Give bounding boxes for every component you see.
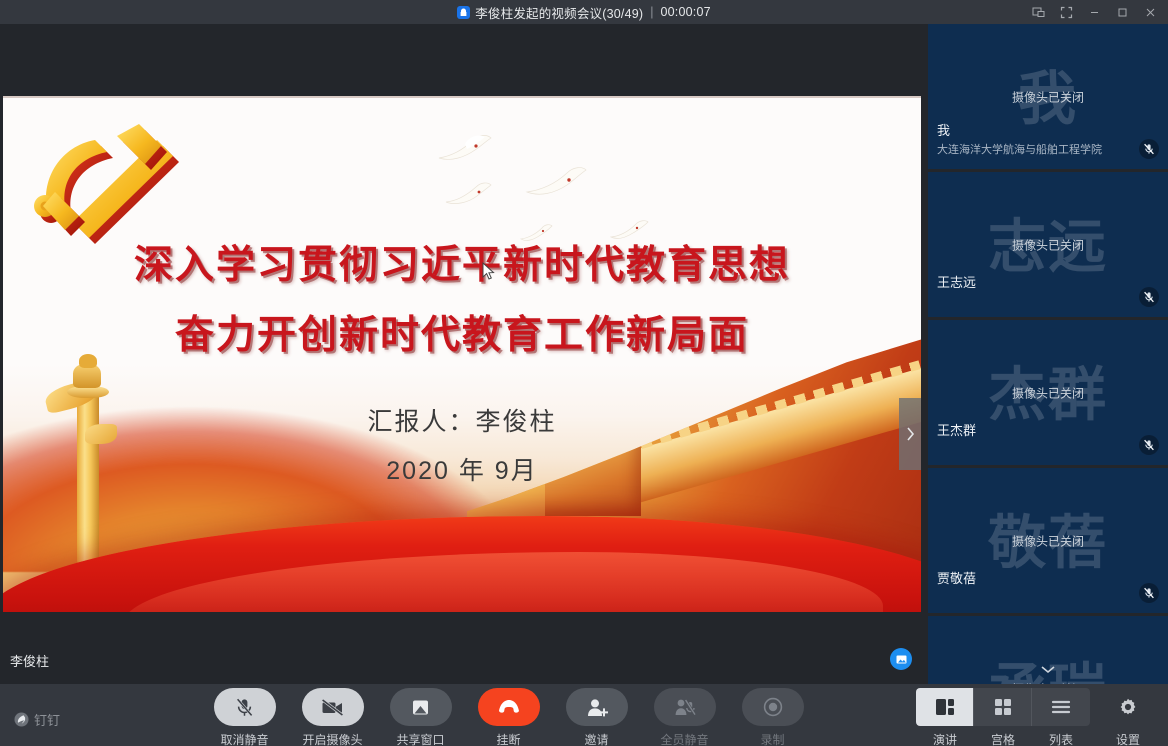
toolbar-label: 邀请 bbox=[584, 731, 608, 746]
close-button[interactable] bbox=[1136, 0, 1164, 24]
slide-title-line-1: 深入学习贯彻习近平新时代教育思想 bbox=[3, 234, 921, 290]
slide-title-line-2: 奋力开创新时代教育工作新局面 bbox=[3, 304, 921, 360]
record-icon[interactable] bbox=[742, 688, 804, 726]
participant-org: 大连海洋大学航海与船舶工程学院 bbox=[937, 141, 1102, 157]
view-mode-speaker[interactable]: 演讲 bbox=[916, 688, 974, 746]
share-window-icon[interactable] bbox=[390, 688, 452, 726]
minimize-button[interactable] bbox=[1080, 0, 1108, 24]
toolbar-label: 取消静音 bbox=[220, 731, 268, 746]
participant-name: 王志远 bbox=[937, 272, 976, 291]
toolbar-label: 挂断 bbox=[496, 731, 520, 746]
maximize-button[interactable] bbox=[1108, 0, 1136, 24]
participant-tile[interactable]: 我 摄像头已关闭 我 大连海洋大学航海与船舶工程学院 bbox=[928, 24, 1168, 169]
camera-status-label: 摄像头已关闭 bbox=[928, 532, 1168, 549]
next-slide-button[interactable] bbox=[899, 398, 921, 470]
presentation-slide: 深入学习贯彻习近平新时代教育思想 奋力开创新时代教育工作新局面 汇报人：李俊柱 … bbox=[3, 96, 921, 612]
slide-text-block: 深入学习贯彻习近平新时代教育思想 奋力开创新时代教育工作新局面 汇报人：李俊柱 … bbox=[3, 96, 921, 612]
toolbar-item-share-window[interactable]: 共享窗口 bbox=[382, 688, 459, 746]
participant-tile[interactable]: 敬蓓 摄像头已关闭 贾敬蓓 bbox=[928, 468, 1168, 613]
window-controls bbox=[1024, 0, 1164, 24]
participant-name: 我 bbox=[937, 120, 950, 139]
participant-rail[interactable]: 我 摄像头已关闭 我 大连海洋大学航海与船舶工程学院 志远 摄像头已关闭 王志远 bbox=[928, 24, 1168, 684]
toolbar-actions: 取消静音 开启摄像头 bbox=[206, 688, 811, 746]
view-mode-grid[interactable]: 宫格 bbox=[974, 688, 1032, 746]
participant-name: 贾敬蓓 bbox=[937, 568, 976, 587]
shared-screen-stage[interactable]: 深入学习贯彻习近平新时代教育思想 奋力开创新时代教育工作新局面 汇报人：李俊柱 … bbox=[0, 24, 924, 684]
view-mode-group: 演讲 宫格 列表 bbox=[916, 688, 1090, 746]
fullscreen-button[interactable] bbox=[1052, 0, 1080, 24]
dingtalk-meeting-icon bbox=[457, 6, 470, 19]
toolbar-item-mute-all[interactable]: 全员静音 bbox=[646, 688, 723, 746]
toolbar-item-hangup[interactable]: 挂断 bbox=[470, 688, 547, 746]
presenter-name: 李俊柱 bbox=[10, 651, 49, 670]
settings-label: 设置 bbox=[1116, 731, 1140, 746]
view-mode-label: 宫格 bbox=[991, 731, 1015, 746]
brand-label: 钉钉 bbox=[34, 710, 60, 729]
toolbar-label: 开启摄像头 bbox=[302, 731, 362, 746]
toolbar-item-unmute[interactable]: 取消静音 bbox=[206, 688, 283, 746]
participant-tile[interactable]: 志远 摄像头已关闭 王志远 bbox=[928, 172, 1168, 317]
toolbar-label: 录制 bbox=[760, 731, 784, 746]
title-center: 李俊柱发起的视频会议(30/49) | 00:00:07 bbox=[457, 3, 711, 22]
meeting-timer: 00:00:07 bbox=[661, 5, 711, 19]
screen-share-icon bbox=[890, 648, 912, 670]
dingtalk-logo-icon bbox=[14, 712, 29, 727]
dingtalk-brand: 钉钉 bbox=[14, 710, 60, 729]
participant-name: 王杰群 bbox=[937, 420, 976, 439]
toolbar-item-record[interactable]: 录制 bbox=[734, 688, 811, 746]
view-mode-label: 列表 bbox=[1049, 731, 1073, 746]
meeting-title: 李俊柱发起的视频会议(30/49) bbox=[475, 3, 643, 22]
view-mode-label: 演讲 bbox=[933, 731, 957, 746]
mic-muted-icon bbox=[1139, 139, 1159, 159]
settings-button[interactable]: 设置 bbox=[1100, 688, 1156, 746]
mic-muted-icon bbox=[1139, 435, 1159, 455]
presenter-bar: 李俊柱 bbox=[0, 636, 924, 684]
speaker-view-icon[interactable] bbox=[916, 688, 974, 726]
camera-off-icon[interactable] bbox=[302, 688, 364, 726]
grid-view-icon[interactable] bbox=[974, 688, 1032, 726]
title-separator: | bbox=[648, 5, 655, 19]
dingtalk-meeting-window: 李俊柱发起的视频会议(30/49) | 00:00:07 bbox=[0, 0, 1168, 746]
mute-all-icon[interactable] bbox=[654, 688, 716, 726]
title-bar: 李俊柱发起的视频会议(30/49) | 00:00:07 bbox=[0, 0, 1168, 24]
toolbar-label: 共享窗口 bbox=[396, 731, 444, 746]
mic-muted-icon[interactable] bbox=[214, 688, 276, 726]
toolbar-item-camera[interactable]: 开启摄像头 bbox=[294, 688, 371, 746]
slide-subtitle-presenter: 汇报人：李俊柱 bbox=[3, 402, 921, 438]
participant-tile[interactable]: 杰群 摄像头已关闭 王杰群 bbox=[928, 320, 1168, 465]
hangup-icon[interactable] bbox=[478, 688, 540, 726]
gear-icon[interactable] bbox=[1109, 688, 1147, 726]
view-mode-list[interactable]: 列表 bbox=[1032, 688, 1090, 746]
meeting-toolbar: 钉钉 取消静音 bbox=[0, 684, 1168, 746]
toolbar-label: 全员静音 bbox=[660, 731, 708, 746]
toolbar-item-invite[interactable]: 邀请 bbox=[558, 688, 635, 746]
chevron-down-icon[interactable] bbox=[928, 658, 1168, 680]
camera-status-label: 摄像头已关闭 bbox=[928, 88, 1168, 105]
list-view-icon[interactable] bbox=[1032, 688, 1090, 726]
mic-muted-icon bbox=[1139, 287, 1159, 307]
picture-in-picture-button[interactable] bbox=[1024, 0, 1052, 24]
camera-status-label: 摄像头已关闭 bbox=[928, 236, 1168, 253]
mic-muted-icon bbox=[1139, 583, 1159, 603]
add-user-icon[interactable] bbox=[566, 688, 628, 726]
slide-subtitle-date: 2020 年 9月 bbox=[3, 451, 921, 487]
camera-status-label: 摄像头已关闭 bbox=[928, 384, 1168, 401]
